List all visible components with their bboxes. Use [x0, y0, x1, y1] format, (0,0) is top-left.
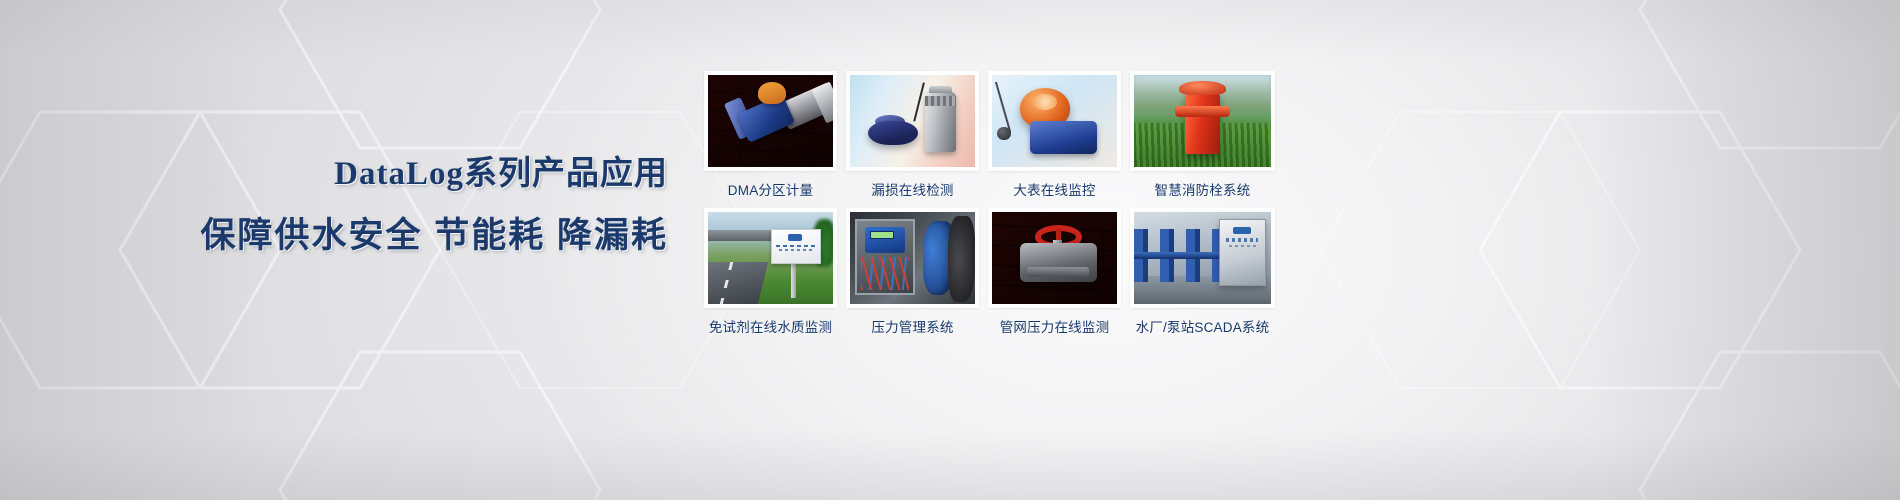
product-card-water-quality-monitoring[interactable]: 免试剂在线水质监测 — [705, 209, 836, 336]
hydrant-cap-shape — [1179, 81, 1226, 96]
dma-zone-metering-valve-photo — [708, 75, 833, 167]
controller-screen-shape — [870, 231, 894, 240]
sign-text-line-1 — [776, 245, 814, 247]
product-thumbnail[interactable] — [989, 209, 1120, 307]
cabinet-text-line-2 — [1229, 245, 1256, 248]
product-thumbnail[interactable] — [847, 209, 978, 307]
sign-logo-shape — [788, 234, 802, 241]
headline-line-1: DataLog系列产品应用 — [0, 148, 668, 200]
blue-logger-shape — [868, 121, 918, 145]
product-caption: 大表在线监控 — [1013, 179, 1095, 199]
headline-block: DataLog系列产品应用 保障供水安全 节能耗 降漏耗 — [0, 148, 690, 264]
product-card-smart-hydrant-system[interactable]: 智慧消防栓系统 — [1131, 72, 1274, 199]
reagent-free-water-quality-station-photo — [708, 212, 833, 304]
product-card-large-meter-monitoring[interactable]: 大表在线监控 — [989, 72, 1120, 199]
product-thumbnail[interactable] — [705, 209, 836, 307]
product-caption: 漏损在线检测 — [871, 179, 953, 199]
headline-line-2: 保障供水安全 节能耗 降漏耗 — [0, 208, 668, 264]
product-card-pipe-network-pressure[interactable]: 管网压力在线监测 — [989, 209, 1120, 336]
product-application-banner: DataLog系列产品应用 保障供水安全 节能耗 降漏耗 DMA分区计量 — [0, 0, 1900, 500]
sensor-ball-shape — [997, 127, 1011, 141]
blue-meter-body-shape — [1030, 121, 1098, 154]
product-caption: 水厂/泵站SCADA系统 — [1136, 316, 1270, 336]
waterworks-pump-station-scada-photo — [1134, 212, 1271, 304]
product-thumbnail[interactable] — [847, 72, 978, 170]
control-cabinet-shape — [855, 219, 915, 294]
product-row-1: DMA分区计量 漏损在线检测 — [705, 72, 1285, 199]
product-card-dma-zone-metering[interactable]: DMA分区计量 — [705, 72, 836, 199]
antenna-shape — [913, 83, 925, 123]
product-card-leakage-online-detection[interactable]: 漏损在线检测 — [847, 72, 978, 199]
product-caption: DMA分区计量 — [728, 179, 813, 199]
black-hose-shape — [948, 216, 976, 302]
sign-text-line-2 — [779, 249, 812, 251]
cabinet-text-line-1 — [1226, 238, 1258, 241]
pipe-network-pressure-valve-photo — [992, 212, 1117, 304]
product-thumbnail[interactable] — [1131, 72, 1274, 170]
cabinet-logo-shape — [1233, 227, 1251, 235]
product-caption: 管网压力在线监测 — [1000, 316, 1110, 336]
product-card-scada-system[interactable]: 水厂/泵站SCADA系统 — [1131, 209, 1274, 336]
road-shape — [708, 262, 768, 304]
product-caption: 免试剂在线水质监测 — [709, 316, 832, 336]
station-sign-shape — [771, 229, 821, 264]
scada-control-cabinet-shape — [1219, 219, 1266, 285]
product-caption: 压力管理系统 — [871, 316, 953, 336]
large-meter-online-monitoring-photo — [992, 75, 1117, 167]
wiring-bundle-shape — [861, 257, 908, 290]
product-application-grid: DMA分区计量 漏损在线检测 — [705, 72, 1285, 336]
product-card-pressure-management-system[interactable]: 压力管理系统 — [847, 209, 978, 336]
smart-hydrant-system-photo — [1134, 75, 1271, 167]
grey-valve-body-shape — [1020, 243, 1098, 282]
sign-post-shape — [791, 263, 796, 298]
sensor-arm-shape — [995, 81, 1011, 131]
valve-cap-shape — [758, 82, 786, 104]
product-thumbnail[interactable] — [705, 72, 836, 170]
leakage-online-detection-logger-photo — [850, 75, 975, 167]
blue-pipe-array-shape — [1134, 229, 1224, 282]
product-row-2: 免试剂在线水质监测 压力管理系统 — [705, 209, 1285, 336]
pressure-management-cabinet-photo — [850, 212, 975, 304]
red-hydrant-shape — [1185, 90, 1221, 154]
controller-panel-shape — [865, 227, 905, 253]
product-thumbnail[interactable] — [989, 72, 1120, 170]
product-caption: 智慧消防栓系统 — [1155, 179, 1251, 199]
grey-sensor-shape — [925, 92, 956, 153]
product-thumbnail[interactable] — [1131, 209, 1274, 307]
